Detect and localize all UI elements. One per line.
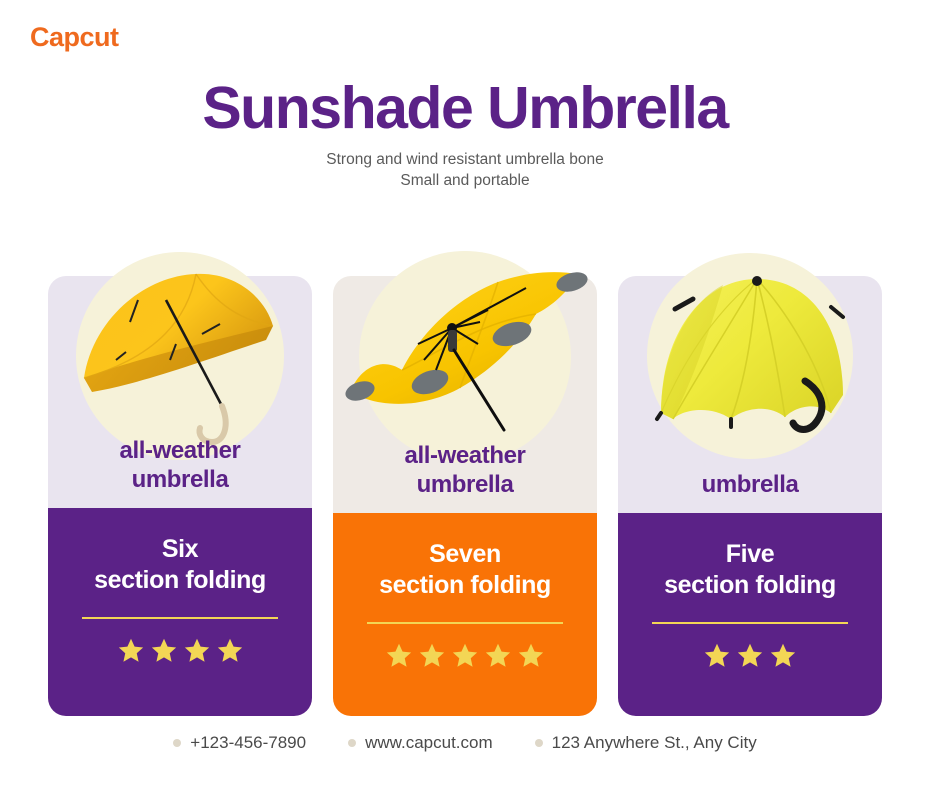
card-image-area: all-weather umbrella [333,276,597,513]
dot-icon [348,739,356,747]
product-cards-row: all-weather umbrella Six section folding [48,276,882,716]
star-icon [704,642,730,668]
card-divider [82,617,278,619]
card-section-title: Seven section folding [379,539,551,600]
footer-website[interactable]: www.capcut.com [348,733,493,753]
page-subtitle-line-1: Strong and wind resistant umbrella bone [0,150,930,171]
card-label-line-1: all-weather [405,442,526,469]
card-label-line-2: umbrella [417,471,514,498]
card-detail-area: Seven section folding [333,513,597,716]
card-divider [652,622,848,624]
card-image-area: all-weather umbrella [48,276,312,508]
footer-phone[interactable]: +123-456-7890 [173,733,306,753]
card-rating-stars [386,642,544,668]
footer-address[interactable]: 123 Anywhere St., Any City [535,733,757,753]
footer-address-text: 123 Anywhere St., Any City [552,733,757,753]
footer-contact-bar: +123-456-7890 www.capcut.com 123 Anywher… [0,733,930,753]
page-subtitle: Strong and wind resistant umbrella bone … [0,150,930,192]
card-label-line-2: umbrella [132,466,229,493]
card-section-title: Five section folding [664,539,836,600]
card-label-line-1: all-weather [120,437,241,464]
star-icon [737,642,763,668]
card-divider [367,622,563,624]
card-section-count: Six [162,535,198,563]
star-icon [485,642,511,668]
yellow-classic-umbrella-photo [70,256,290,466]
star-icon [386,642,412,668]
card-detail-area: Five section folding [618,513,882,716]
card-section-count: Seven [429,540,501,568]
product-card-five-section[interactable]: umbrella Five section folding [618,276,882,716]
card-section-folding: section folding [94,566,266,594]
card-label-line-1: umbrella [702,471,799,498]
star-icon [217,637,243,663]
card-detail-area: Six section folding [48,508,312,716]
star-icon [118,637,144,663]
dot-icon [535,739,543,747]
star-icon [518,642,544,668]
star-icon [452,642,478,668]
card-label: umbrella [702,471,799,513]
footer-phone-text: +123-456-7890 [190,733,306,753]
yellow-dome-umbrella-photo [645,261,855,461]
footer-website-text: www.capcut.com [365,733,493,753]
card-section-title: Six section folding [94,534,266,595]
page-subtitle-line-2: Small and portable [0,171,930,192]
brand-logo: Capcut [30,22,119,53]
card-label: all-weather umbrella [120,437,241,508]
star-icon [419,642,445,668]
page-header: Sunshade Umbrella Strong and wind resist… [0,78,930,192]
product-card-six-section[interactable]: all-weather umbrella Six section folding [48,276,312,716]
card-section-folding: section folding [379,571,551,599]
card-section-folding: section folding [664,571,836,599]
card-label: all-weather umbrella [405,442,526,513]
star-icon [184,637,210,663]
product-card-seven-section[interactable]: all-weather umbrella Seven section foldi… [333,276,597,716]
card-image-area: umbrella [618,276,882,513]
yellow-wind-resistant-umbrella-photo [340,252,590,467]
dot-icon [173,739,181,747]
star-icon [770,642,796,668]
card-rating-stars [118,637,243,663]
card-rating-stars [704,642,796,668]
page-title: Sunshade Umbrella [0,78,930,140]
star-icon [151,637,177,663]
card-section-count: Five [726,540,774,568]
